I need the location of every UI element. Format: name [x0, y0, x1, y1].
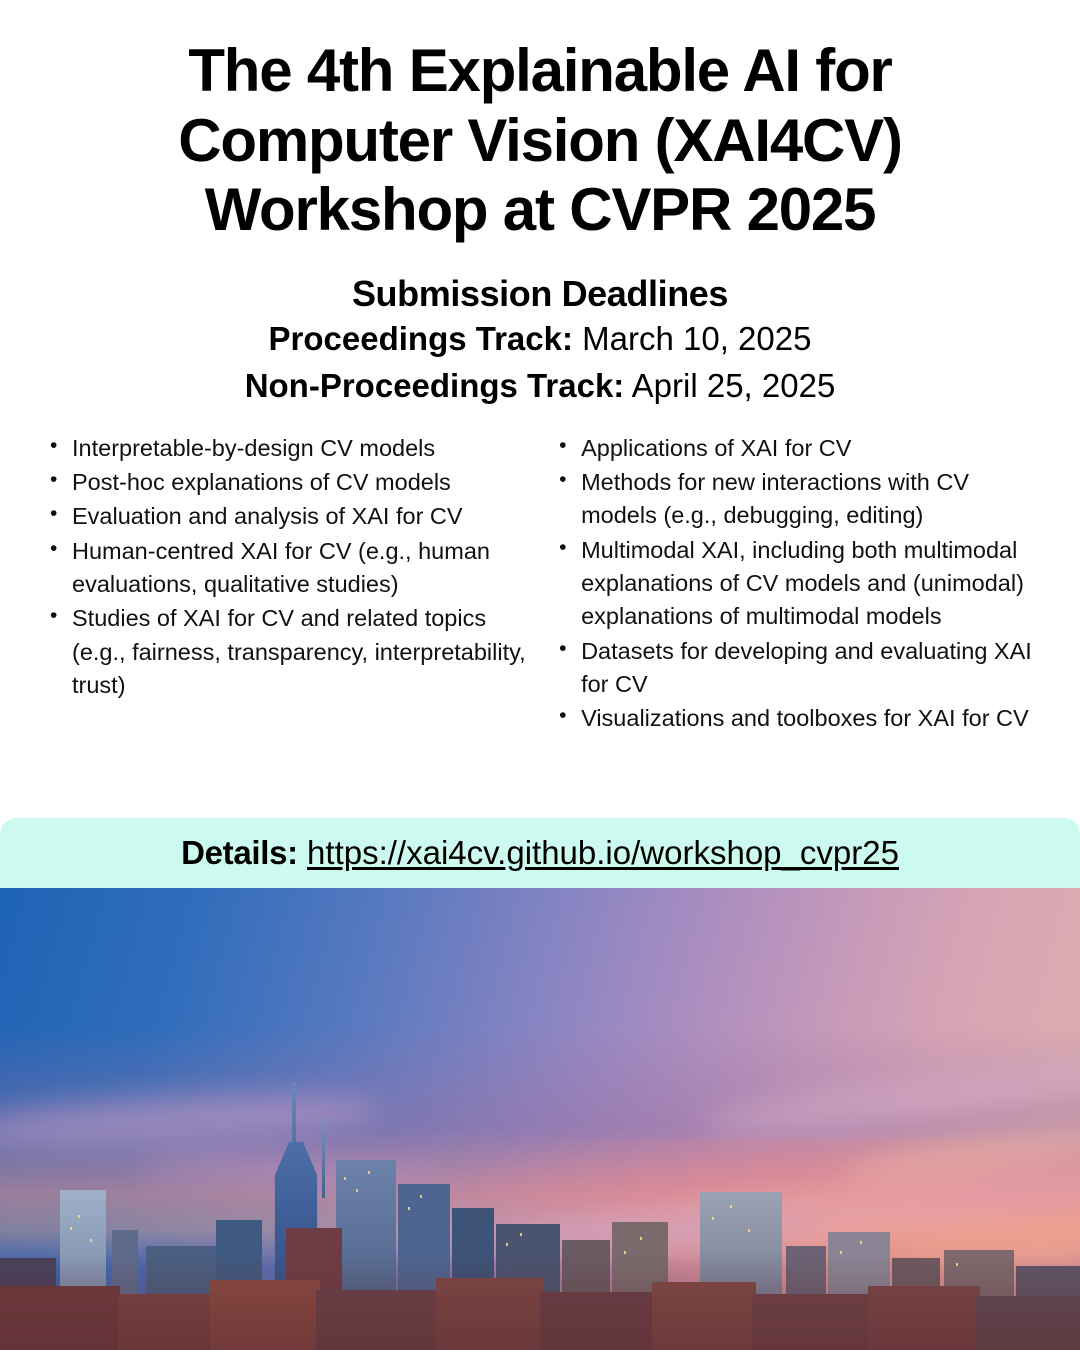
details-band: Details: https://xai4cv.github.io/worksh… — [0, 818, 1080, 888]
deadline-label-non-proceedings: Non-Proceedings Track: — [245, 367, 625, 404]
title-line-2: Computer Vision (XAI4CV) — [70, 106, 1010, 176]
list-item: Methods for new interactions with CV mod… — [559, 466, 1050, 533]
details-text: Details: https://xai4cv.github.io/worksh… — [181, 834, 899, 872]
deadline-value-proceedings: March 10, 2025 — [582, 320, 811, 357]
list-item: Multimodal XAI, including both multimoda… — [559, 534, 1050, 634]
page-title: The 4th Explainable AI for Computer Visi… — [0, 0, 1080, 245]
topics-column-right: Applications of XAI for CV Methods for n… — [545, 432, 1056, 737]
poster-root: The 4th Explainable AI for Computer Visi… — [0, 0, 1080, 1350]
city-skyline — [0, 1088, 1080, 1350]
list-item: Studies of XAI for CV and related topics… — [50, 602, 527, 702]
topic-list-left: Interpretable-by-design CV models Post-h… — [50, 432, 527, 703]
title-line-3: Workshop at CVPR 2025 — [70, 175, 1010, 245]
nashville-skyline-photo: CVPR Nashville JUNE 11-15, 2025 — [0, 888, 1080, 1350]
details-label: Details: — [181, 834, 298, 871]
topics-section: Interpretable-by-design CV models Post-h… — [0, 410, 1080, 737]
list-item: Evaluation and analysis of XAI for CV — [50, 500, 527, 533]
deadline-row-proceedings: Proceedings Track: March 10, 2025 — [0, 316, 1080, 363]
deadline-row-non-proceedings: Non-Proceedings Track: April 25, 2025 — [0, 363, 1080, 410]
submission-deadlines-section: Submission Deadlines Proceedings Track: … — [0, 271, 1080, 410]
list-item: Post-hoc explanations of CV models — [50, 466, 527, 499]
list-item: Applications of XAI for CV — [559, 432, 1050, 465]
title-line-1: The 4th Explainable AI for — [70, 36, 1010, 106]
foreground-shadow — [0, 1254, 1080, 1350]
list-item: Human-centred XAI for CV (e.g., human ev… — [50, 535, 527, 602]
list-item: Interpretable-by-design CV models — [50, 432, 527, 465]
deadlines-heading: Submission Deadlines — [0, 271, 1080, 316]
list-item: Datasets for developing and evaluating X… — [559, 635, 1050, 702]
topic-list-right: Applications of XAI for CV Methods for n… — [559, 432, 1050, 736]
topics-column-left: Interpretable-by-design CV models Post-h… — [24, 432, 535, 704]
deadline-label-proceedings: Proceedings Track: — [269, 320, 573, 357]
att-tower-spire-right-icon — [322, 1118, 325, 1198]
deadline-value-non-proceedings: April 25, 2025 — [632, 367, 836, 404]
workshop-url-link[interactable]: https://xai4cv.github.io/workshop_cvpr25 — [307, 834, 899, 871]
list-item: Visualizations and toolboxes for XAI for… — [559, 702, 1050, 735]
